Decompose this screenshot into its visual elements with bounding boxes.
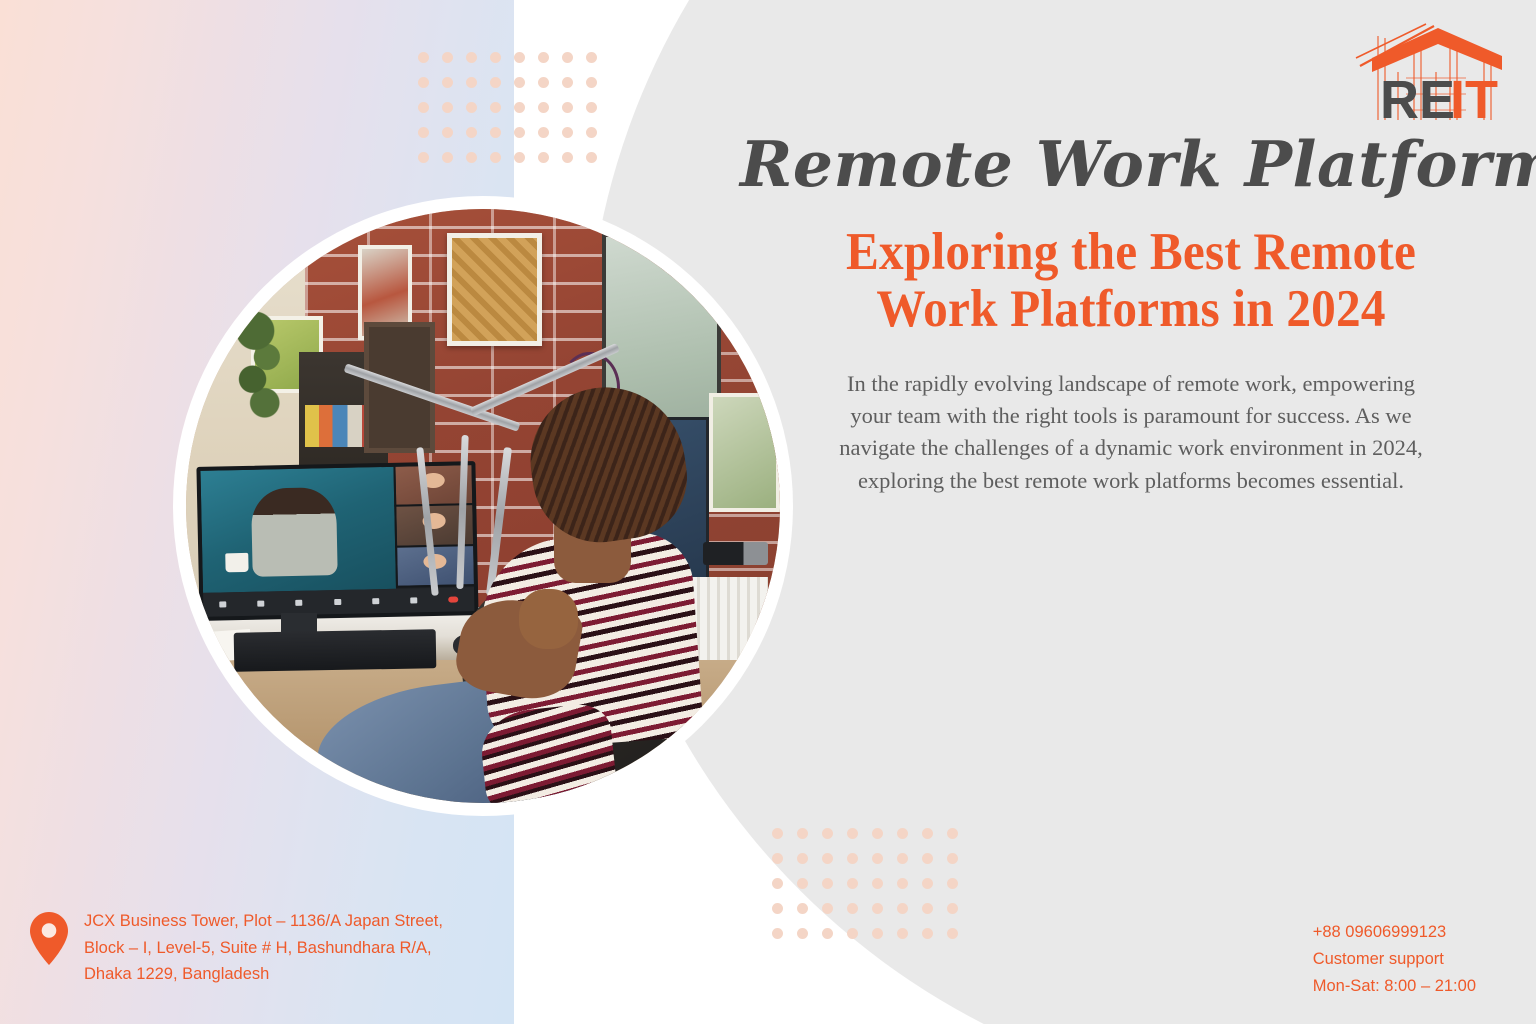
decorative-dot <box>538 102 549 113</box>
svg-text:IT: IT <box>1450 70 1498 126</box>
decorative-dot <box>897 928 908 939</box>
decorative-dot <box>418 152 429 163</box>
headline-line-2: Work Platforms in 2024 <box>767 281 1494 338</box>
hero-photo-ring <box>173 196 793 816</box>
video-call-main-speaker <box>200 467 395 593</box>
decorative-dot <box>562 152 573 163</box>
decorative-dot <box>514 102 525 113</box>
decorative-dot <box>418 127 429 138</box>
decorative-dot <box>822 853 833 864</box>
chat-icon <box>372 599 379 605</box>
decorative-dot <box>442 52 453 63</box>
content-column: Remote Work Platforms Exploring the Best… <box>740 132 1522 497</box>
poster-canvas: RE IT Remote Work Platforms Exploring th… <box>0 0 1536 1024</box>
record-icon <box>410 598 417 604</box>
decorative-dot <box>797 853 808 864</box>
decorative-dot <box>797 928 808 939</box>
decorative-dot <box>947 853 958 864</box>
decorative-dot <box>586 152 597 163</box>
leave-call-icon <box>448 597 458 603</box>
decorative-dot <box>490 77 501 88</box>
decorative-dot <box>442 127 453 138</box>
main-speaker-figure <box>251 488 338 577</box>
hanging-plant <box>234 298 287 429</box>
decorative-dot <box>466 102 477 113</box>
decorative-dot <box>586 127 597 138</box>
decorative-dot <box>772 828 783 839</box>
support-hours: Mon-Sat: 8:00 – 21:00 <box>1313 973 1476 1000</box>
decorative-dot <box>847 928 858 939</box>
decorative-dot <box>947 928 958 939</box>
decorative-dot <box>847 828 858 839</box>
decorative-dot <box>872 928 883 939</box>
decorative-dot <box>490 52 501 63</box>
decorative-dot <box>442 77 453 88</box>
decorative-dot <box>442 102 453 113</box>
decorative-dot <box>586 52 597 63</box>
share-screen-icon <box>295 600 302 606</box>
decorative-dot <box>797 903 808 914</box>
hero-photo <box>186 209 780 803</box>
dot-grid-top <box>418 52 610 177</box>
decorative-dot <box>418 77 429 88</box>
decorative-dot <box>514 127 525 138</box>
contact-block: +88 09606999123 Customer support Mon-Sat… <box>1313 919 1476 1000</box>
decorative-dot <box>562 52 573 63</box>
decorative-dot <box>418 102 429 113</box>
decorative-dot <box>772 928 783 939</box>
decorative-dot <box>466 127 477 138</box>
decorative-dot <box>897 828 908 839</box>
decorative-dot <box>922 878 933 889</box>
decorative-dot <box>538 127 549 138</box>
microphone <box>703 542 768 566</box>
body-paragraph: In the rapidly evolving landscape of rem… <box>831 368 1431 497</box>
decorative-dot <box>772 903 783 914</box>
decorative-dot <box>897 903 908 914</box>
framed-art-logs <box>447 233 542 346</box>
decorative-dot <box>514 52 525 63</box>
decorative-dot <box>466 77 477 88</box>
decorative-dot <box>514 77 525 88</box>
decorative-dot <box>822 928 833 939</box>
decorative-dot <box>797 878 808 889</box>
decorative-dot <box>897 853 908 864</box>
decorative-dot <box>922 928 933 939</box>
participants-icon <box>334 599 341 605</box>
mute-icon <box>219 602 226 608</box>
decorative-dot <box>947 878 958 889</box>
decorative-dot <box>847 878 858 889</box>
decorative-dot <box>847 903 858 914</box>
desktop-monitor <box>196 461 478 621</box>
decorative-dot <box>772 853 783 864</box>
decorative-dot <box>772 878 783 889</box>
reit-logo[interactable]: RE IT <box>1354 22 1502 126</box>
decorative-dot <box>897 878 908 889</box>
decorative-dot <box>922 903 933 914</box>
decorative-dot <box>490 127 501 138</box>
decorative-dot <box>562 127 573 138</box>
decorative-dot <box>586 77 597 88</box>
decorative-dot <box>418 52 429 63</box>
headline-line-1: Exploring the Best Remote <box>767 224 1494 281</box>
decorative-dot <box>922 853 933 864</box>
decorative-dot <box>490 102 501 113</box>
decorative-dot <box>514 152 525 163</box>
decorative-dot <box>562 77 573 88</box>
decorative-dot <box>466 52 477 63</box>
svg-text:RE: RE <box>1380 70 1455 126</box>
person-hand <box>519 589 578 648</box>
phone-number[interactable]: +88 09606999123 <box>1313 919 1476 946</box>
keyboard <box>233 629 436 671</box>
decorative-dot <box>947 828 958 839</box>
decorative-dot <box>466 152 477 163</box>
coffee-mug <box>225 553 248 573</box>
location-pin-icon <box>30 912 68 970</box>
address-block: JCX Business Tower, Plot – 1136/A Japan … <box>30 908 443 988</box>
decorative-dot <box>822 903 833 914</box>
decorative-dot <box>872 853 883 864</box>
decorative-dot <box>442 152 453 163</box>
decorative-dot <box>822 828 833 839</box>
decorative-dot <box>872 903 883 914</box>
decorative-dot <box>490 152 501 163</box>
headline: Exploring the Best Remote Work Platforms… <box>767 224 1494 338</box>
decorative-dot <box>797 828 808 839</box>
decorative-dot <box>538 152 549 163</box>
dot-grid-bottom <box>772 828 972 953</box>
decorative-dot <box>847 853 858 864</box>
decorative-dot <box>538 77 549 88</box>
decorative-dot <box>822 878 833 889</box>
decorative-dot <box>538 52 549 63</box>
page-title: Remote Work Platforms <box>740 132 1522 198</box>
decorative-dot <box>872 828 883 839</box>
support-label: Customer support <box>1313 946 1476 973</box>
decorative-dot <box>947 903 958 914</box>
decorative-dot <box>562 102 573 113</box>
video-settings-icon <box>257 601 264 607</box>
decorative-dot <box>922 828 933 839</box>
decorative-dot <box>872 878 883 889</box>
address-text: JCX Business Tower, Plot – 1136/A Japan … <box>84 908 443 988</box>
decorative-dot <box>586 102 597 113</box>
